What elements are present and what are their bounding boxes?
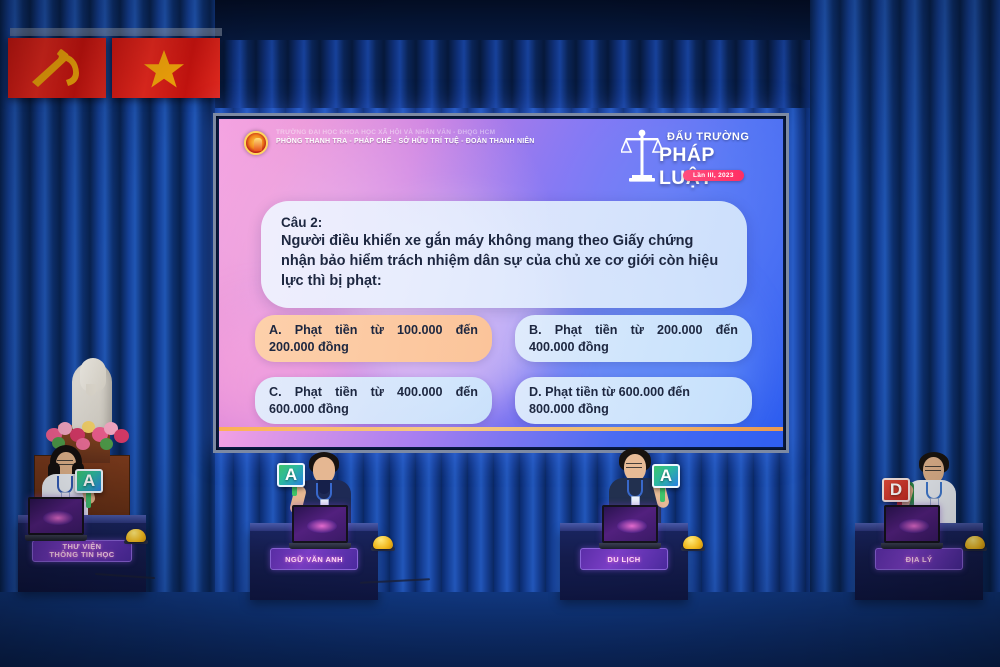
contestant-2-buzzer[interactable] [373,536,393,549]
contestant-4-laptop-screen [884,505,940,543]
contestant-3-laptop-base [599,543,661,549]
nameplate-2: NGỮ VĂN ANH [270,548,358,570]
contestant-2-paddle-letter: A [285,465,297,485]
contestant-1-paddle-handle [86,492,91,508]
led-presentation-screen: TRƯỜNG ĐẠI HỌC KHOA HỌC XÃ HỘI VÀ NHÂN V… [213,113,789,453]
flag-rail [10,28,222,36]
brand-line2: PHÁP LUẬT [659,144,771,190]
answer-option-d: D. Phạt tiền từ 600.000 đến 800.000 đồng [515,377,752,424]
contestant-1-answer-paddle[interactable]: A [75,469,103,493]
answer-option-b: B. Phạt tiền từ 200.000 đến 400.000 đồng [515,315,752,362]
contestant-3-buzzer[interactable] [683,536,703,549]
answer-option-c: C. Phạt tiền từ 400.000 đến 600.000 đồng [255,377,492,424]
nameplate-4: ĐỊA LÝ [875,548,963,570]
slide-footer [219,431,783,447]
university-line1: TRƯỜNG ĐẠI HỌC KHOA HỌC XÃ HỘI VÀ NHÂN V… [276,129,534,136]
program-brand: ĐẤU TRƯỜNG PHÁP LUẬT Lần III, 2023 [621,125,771,189]
yellow-star-icon [142,48,186,90]
scales-of-justice-icon [621,127,663,187]
contestant-3-glasses [626,463,642,468]
nameplate-2-label: NGỮ VĂN ANH [285,555,343,564]
contestant-1-buzzer[interactable] [126,529,146,542]
contestant-4-paddle-letter: D [890,480,902,500]
contestant-4-glasses [925,466,941,471]
hammer-and-sickle-icon [22,49,88,89]
brand-line1: ĐẤU TRƯỜNG [667,131,750,143]
communist-party-flag [8,38,106,98]
university-line2: PHÒNG THANH TRA - PHÁP CHẾ - SỞ HỮU TRÍ … [276,138,534,145]
bust-beard [86,384,96,396]
slide-header: TRƯỜNG ĐẠI HỌC KHOA HỌC XÃ HỘI VÀ NHÂN V… [219,119,783,167]
university-text-block: TRƯỜNG ĐẠI HỌC KHOA HỌC XÃ HỘI VÀ NHÂN V… [276,129,534,145]
edition-badge: Lần III, 2023 [683,170,744,181]
contestant-4-laptop-base [881,543,943,549]
contestant-2-answer-paddle[interactable]: A [277,463,305,487]
vietnam-flag [112,38,220,98]
nameplate-3-label: DU LỊCH [607,555,640,564]
contestant-3-answer-paddle[interactable]: A [652,464,680,488]
contestant-3-paddle-handle [660,486,665,502]
stage-floor [0,592,1000,667]
nameplate-1: THƯ VIỆN THÔNG TIN HỌC [32,540,132,562]
contestant-1-paddle-letter: A [83,471,95,491]
contestant-1-laptop-base [25,535,87,541]
contestant-1-glasses [57,460,73,465]
contestant-4-buzzer[interactable] [965,536,985,549]
contestant-1-laptop-screen [28,497,84,535]
nameplate-4-label: ĐỊA LÝ [906,555,933,564]
question-text: Người điều khiển xe gắn máy không mang t… [281,232,727,292]
contestant-3-paddle-letter: A [660,466,672,486]
stage-scene: TRƯỜNG ĐẠI HỌC KHOA HỌC XÃ HỘI VÀ NHÂN V… [0,0,1000,667]
answer-option-a: A. Phạt tiền từ 100.000 đến 200.000 đồng [255,315,492,362]
question-number: Câu 2: [281,215,727,230]
contestant-2-laptop-base [289,543,351,549]
contestant-4-answer-paddle[interactable]: D [882,478,910,502]
question-card: Câu 2: Người điều khiển xe gắn máy không… [261,201,747,308]
university-emblem-icon [244,131,268,155]
contestant-3-laptop-screen [602,505,658,543]
nameplate-3: DU LỊCH [580,548,668,570]
screen-surface: TRƯỜNG ĐẠI HỌC KHOA HỌC XÃ HỘI VÀ NHÂN V… [219,119,783,447]
nameplate-1-line2: THÔNG TIN HỌC [49,550,114,559]
contestant-2-laptop-screen [292,505,348,543]
